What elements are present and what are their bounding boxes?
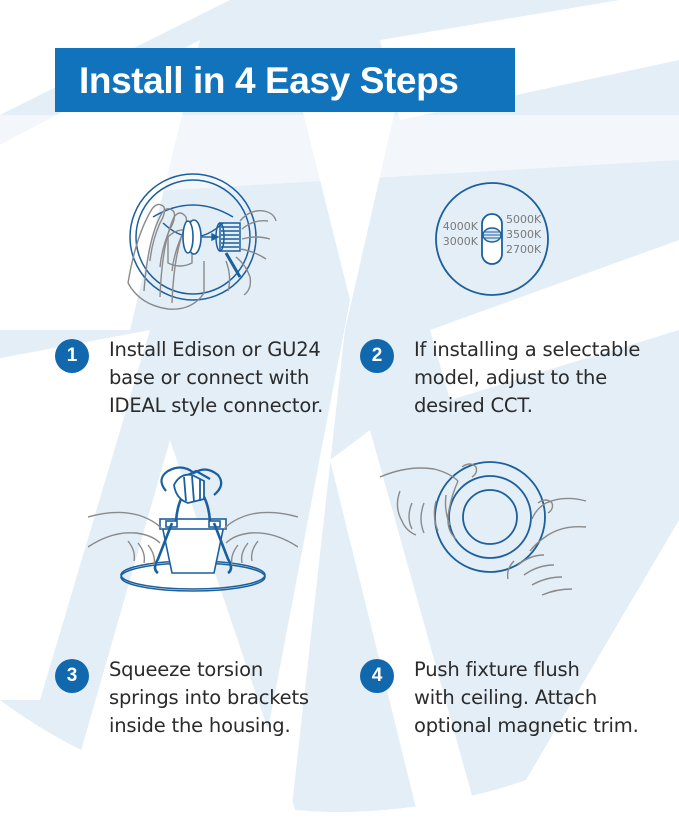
step-3-text: Squeeze torsion springs into brackets in… [109, 656, 309, 740]
step-3-caption: 3 Squeeze torsion springs into brackets … [55, 656, 340, 740]
illustration-hands-connecting-edison-base [108, 165, 278, 315]
step-3-badge: 3 [55, 659, 89, 693]
step-4-badge: 4 [360, 659, 394, 693]
illustration-torsion-springs [88, 455, 298, 610]
cct-label-left-0: 4000K [443, 220, 479, 233]
step-1-badge: 1 [55, 339, 89, 373]
step-2-caption: 2 If installing a selectable model, adju… [360, 336, 645, 420]
step-4-text: Push fixture flush with ceiling. Attach … [414, 656, 639, 740]
cct-switch-knob[interactable] [483, 228, 501, 242]
infographic-page: Install in 4 Easy Steps [0, 0, 679, 824]
step-2-text: If installing a selectable model, adjust… [414, 336, 640, 420]
cct-label-right-2: 2700K [506, 243, 542, 256]
cct-label-right-0: 5000K [506, 213, 542, 226]
page-title: Install in 4 Easy Steps [79, 62, 458, 99]
illustration-cct-selector: 4000K 3000K 5000K 3500K 2700K [428, 178, 556, 300]
step-2-badge: 2 [360, 339, 394, 373]
step-4-caption: 4 Push fixture flush with ceiling. Attac… [360, 656, 645, 740]
illustration-push-fixture-flush [378, 455, 588, 610]
step-1-text: Install Edison or GU24 base or connect w… [109, 336, 323, 420]
step-1-caption: 1 Install Edison or GU24 base or connect… [55, 336, 340, 420]
cct-label-right-1: 3500K [506, 228, 542, 241]
cct-label-left-1: 3000K [443, 235, 479, 248]
title-banner: Install in 4 Easy Steps [55, 48, 515, 112]
